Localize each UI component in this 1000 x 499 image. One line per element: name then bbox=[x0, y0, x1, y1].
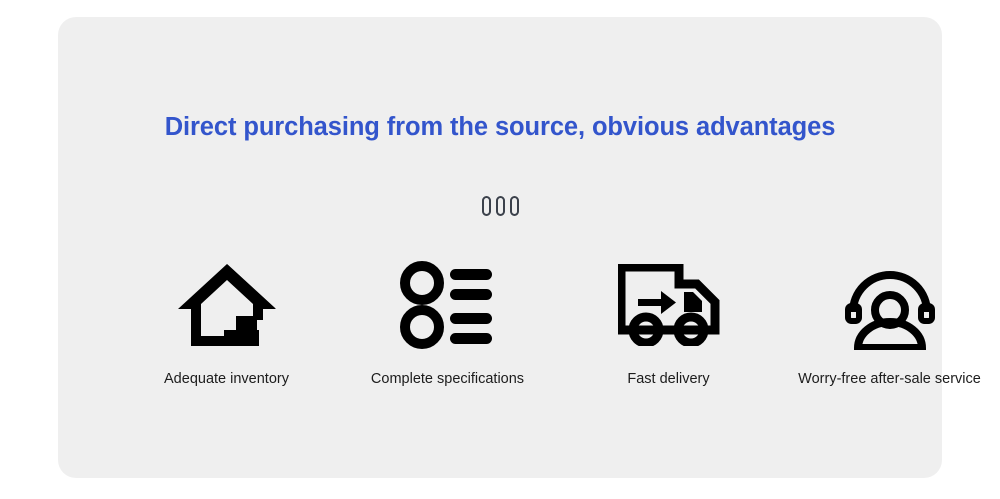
specification-list-icon bbox=[400, 257, 496, 353]
screenshot-root: Direct purchasing from the source, obvio… bbox=[0, 0, 1000, 499]
feature-label: Adequate inventory bbox=[164, 372, 289, 387]
feature-label: Worry-free after-sale service bbox=[798, 372, 981, 387]
feature-item: Adequate inventory bbox=[116, 257, 337, 387]
divider-pip-icon bbox=[510, 196, 519, 216]
headset-support-agent-icon bbox=[840, 257, 940, 353]
page-title: Direct purchasing from the source, obvio… bbox=[58, 113, 942, 142]
divider-pip-icon bbox=[482, 196, 491, 216]
feature-label: Complete specifications bbox=[371, 372, 524, 387]
warehouse-inventory-icon bbox=[177, 257, 277, 353]
feature-item: Worry-free after-sale service bbox=[779, 257, 1000, 387]
feature-item: Complete specifications bbox=[337, 257, 558, 387]
feature-label: Fast delivery bbox=[627, 372, 709, 387]
feature-item: Fast delivery bbox=[558, 257, 779, 387]
feature-list: Adequate inventory Complete specificatio… bbox=[116, 257, 1000, 387]
divider-pip-icon bbox=[496, 196, 505, 216]
advantages-panel: Direct purchasing from the source, obvio… bbox=[58, 17, 942, 478]
divider-ornament bbox=[58, 195, 942, 217]
delivery-truck-icon bbox=[618, 257, 720, 353]
